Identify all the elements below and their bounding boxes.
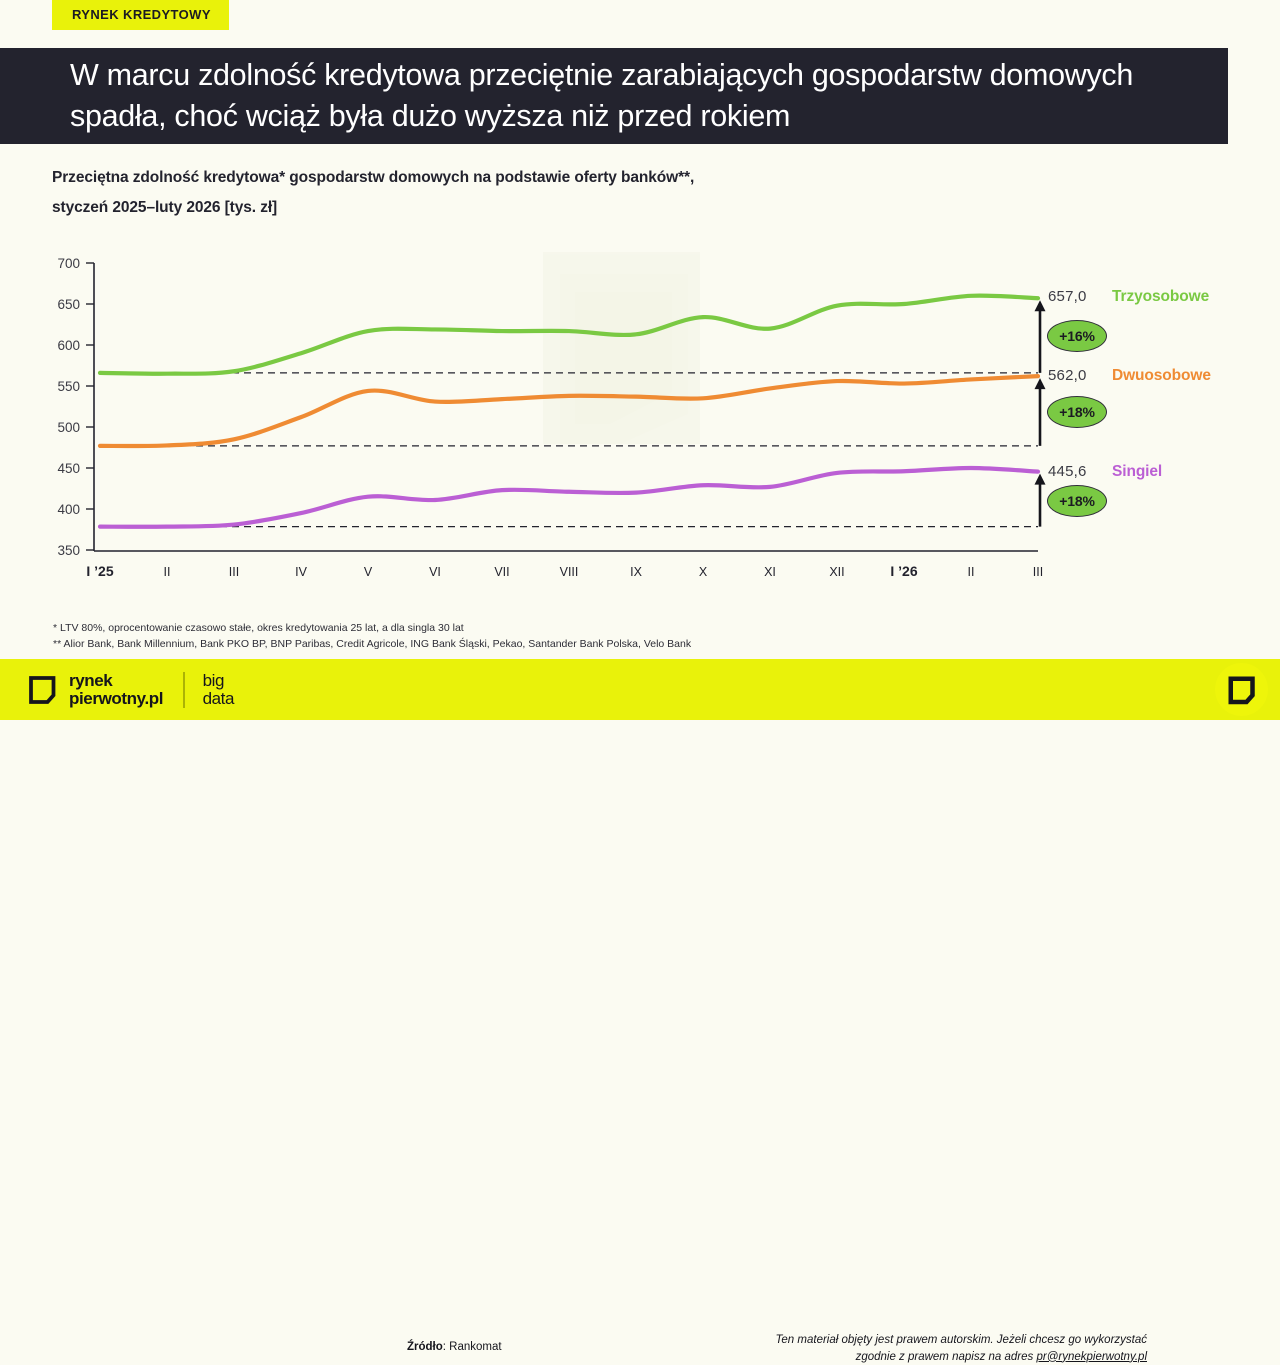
source-value: Rankomat: [449, 1341, 501, 1353]
copyright-line-2: zgodnie z prawem napisz na adres pr@ryne…: [687, 1349, 1147, 1365]
series-label-two: Dwuosobowe: [1112, 367, 1211, 385]
title-bar: W marcu zdolność kredytowa przeciętnie z…: [0, 48, 1228, 144]
footer-logo-badge: [1215, 663, 1268, 716]
copyright-line-1: Ten materiał objęty jest prawem autorski…: [687, 1332, 1147, 1349]
y-axis-tick-label: 400: [57, 502, 80, 517]
x-axis-tick-label: III: [229, 565, 239, 579]
growth-arrow-singiel: [1035, 474, 1046, 527]
footer-bar: rynek pierwotny.pl big data Źródło: Rank…: [0, 659, 1280, 720]
footnotes: * LTV 80%, oprocentowanie czasowo stałe,…: [53, 620, 691, 653]
end-value-two: 562,0: [1048, 367, 1087, 384]
contact-email-link[interactable]: pr@rynekpierwotny.pl: [1036, 1351, 1147, 1363]
x-axis-tick-label: V: [364, 565, 373, 579]
x-axis-tick-label: I ’25: [86, 563, 113, 579]
brand-name: rynek pierwotny.pl: [69, 672, 163, 709]
kicker-badge: RYNEK KREDYTOWY: [52, 0, 229, 30]
bigdata-line-1: big: [203, 672, 235, 690]
series-label-three: Trzyosobowe: [1112, 288, 1209, 306]
x-axis-tick-label: VIII: [560, 565, 579, 579]
y-axis-tick-label: 350: [57, 543, 80, 558]
brand-divider: [183, 672, 185, 708]
copyright-note: Ten materiał objęty jest prawem autorski…: [687, 1332, 1147, 1365]
x-axis-tick-label: XII: [829, 565, 844, 579]
brand-block: rynek pierwotny.pl big data: [28, 669, 234, 711]
chart-subtitle: Przeciętna zdolność kredytowa* gospodars…: [52, 163, 1052, 223]
rynek-pierwotny-mark-icon: [1227, 675, 1257, 705]
rynek-pierwotny-logo-icon: [28, 675, 58, 705]
footnote-1: * LTV 80%, oprocentowanie czasowo stałe,…: [53, 620, 691, 636]
series-label-single: Singiel: [1112, 463, 1162, 481]
page-title: W marcu zdolność kredytowa przeciętnie z…: [0, 55, 1228, 136]
x-axis-tick-label: VII: [494, 565, 509, 579]
change-badge-two: +18%: [1047, 396, 1107, 428]
end-value-three: 657,0: [1048, 288, 1087, 305]
watermark-logo: [543, 252, 700, 444]
x-axis-tick-label: II: [968, 565, 975, 579]
change-badge-single: +18%: [1047, 485, 1107, 517]
y-axis-tick-label: 500: [57, 420, 80, 435]
chart-subtitle-line2: styczeń 2025–luty 2026 [tys. zł]: [52, 193, 1052, 223]
brand-line-2: pierwotny.pl: [69, 690, 163, 708]
brand-line-1: rynek: [69, 672, 163, 690]
y-axis-tick-label: 550: [57, 379, 80, 394]
x-axis-tick-label: III: [1033, 565, 1043, 579]
x-axis-tick-label: IV: [295, 565, 307, 579]
source-note: Źródło: Rankomat: [407, 1341, 502, 1353]
growth-arrow-trzyosobowe: [1035, 300, 1046, 373]
x-axis-tick-label: IX: [630, 565, 642, 579]
footnote-2: ** Alior Bank, Bank Millennium, Bank PKO…: [53, 636, 691, 652]
y-axis-tick-label: 600: [57, 338, 80, 353]
y-axis-tick-label: 650: [57, 297, 80, 312]
x-axis-tick-label: II: [164, 565, 171, 579]
series-line-singiel: [100, 468, 1038, 527]
y-axis-tick-label: 700: [57, 256, 80, 271]
bigdata-line-2: data: [203, 690, 235, 708]
infographic-page: RYNEK KREDYTOWY W marcu zdolność kredyto…: [0, 0, 1280, 720]
change-badge-three: +16%: [1047, 320, 1107, 352]
source-label: Źródło: [407, 1341, 443, 1353]
x-axis-tick-label: XI: [764, 565, 776, 579]
x-axis-tick-label: X: [699, 565, 708, 579]
y-axis-tick-label: 450: [57, 461, 80, 476]
growth-arrow-dwuosobowe: [1035, 378, 1046, 446]
chart-subtitle-line1: Przeciętna zdolność kredytowa* gospodars…: [52, 169, 694, 186]
end-value-single: 445,6: [1048, 463, 1087, 480]
x-axis-tick-label: VI: [429, 565, 441, 579]
x-axis-tick-label: I ’26: [890, 563, 917, 579]
bigdata-logo: big data: [203, 672, 235, 709]
